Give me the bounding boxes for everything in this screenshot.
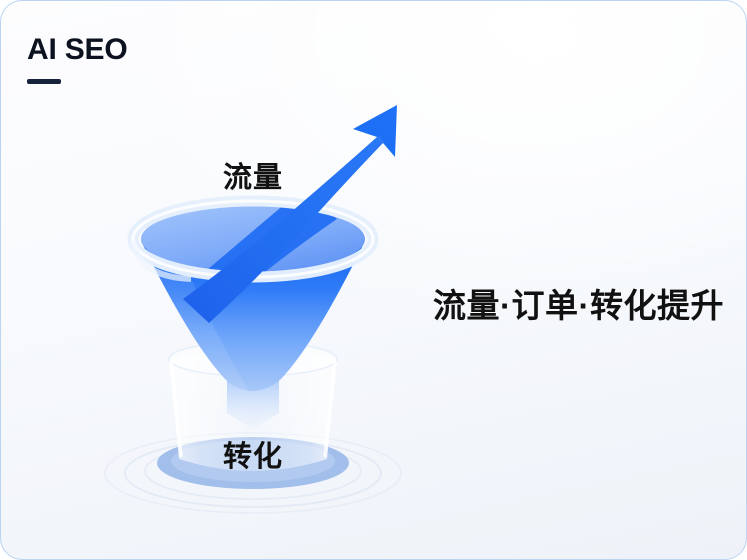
funnel-label-conversion: 转化 — [223, 433, 283, 475]
title-underline-rule — [27, 79, 61, 84]
tagline-text: 流量·订单·转化提升 — [433, 279, 724, 327]
seo-funnel-card: AI SEO 流量·订单·转化提升 — [0, 0, 747, 560]
page-title-label: AI SEO — [27, 35, 128, 65]
page-title: AI SEO — [27, 35, 128, 84]
funnel-label-traffic: 流量 — [223, 154, 283, 196]
